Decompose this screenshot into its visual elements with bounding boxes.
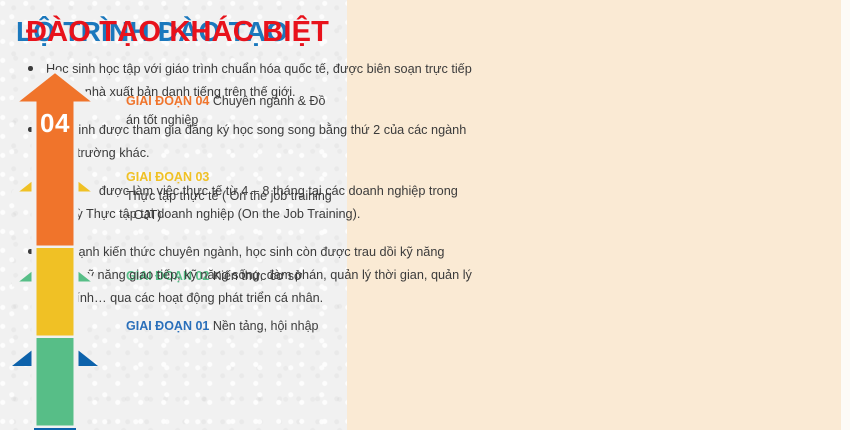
- roadmap-arrow-04[interactable]: 04: [12, 70, 98, 248]
- list-item-text: Học sinh được làm việc thực tế từ 4 – 8 …: [46, 184, 458, 221]
- right-panel-title: ĐÀO TẠO KHÁC BIỆT: [26, 16, 329, 49]
- arrow-shape-04: [12, 70, 98, 248]
- list-item-text: Học sinh được tham gia đăng ký học song …: [46, 123, 466, 160]
- list-item-text: Bên cạnh kiến thức chuyên ngành, học sin…: [46, 245, 472, 305]
- list-item-text: Học sinh học tập với giáo trình chuẩn hó…: [46, 62, 472, 99]
- slide-root: LỘ TRÌNH ĐÀO TẠO 01 02 03 04: [0, 0, 850, 430]
- right-edge-strip: [841, 0, 850, 430]
- roadmap-arrow-04-number: 04: [12, 108, 98, 139]
